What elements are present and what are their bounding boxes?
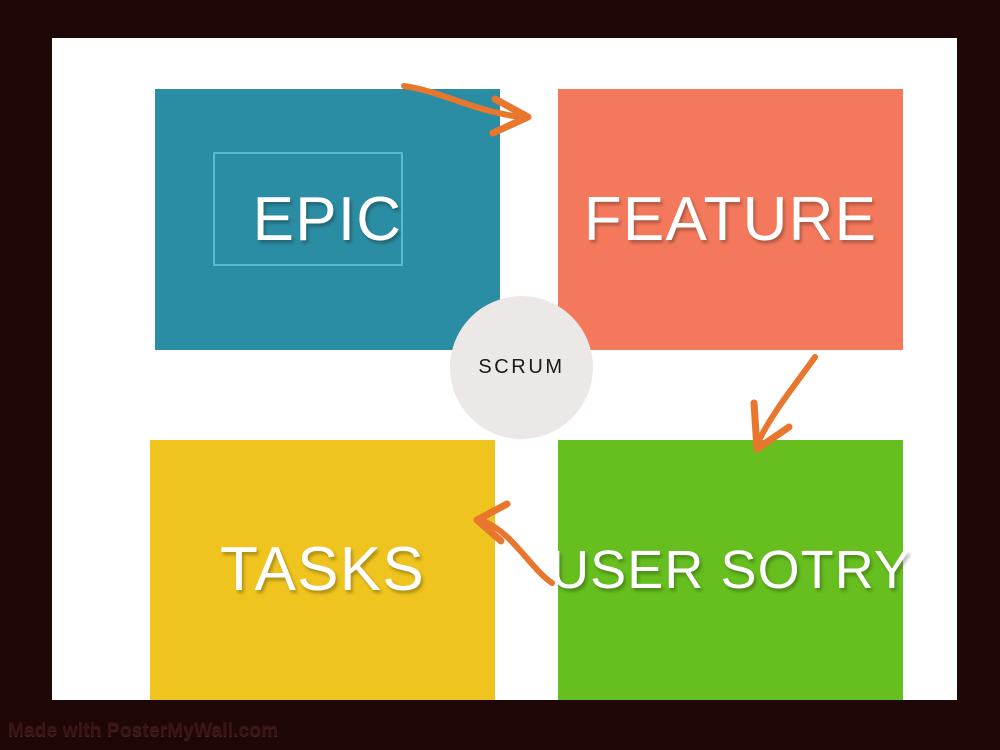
block-user-story-label: USER SOTRY [550,543,911,597]
block-user-story[interactable]: USER SOTRY [558,440,903,700]
block-feature[interactable]: FEATURE [558,89,903,350]
poster-frame: EPIC FEATURE TASKS USER SOTRY SCRUM [0,0,1000,750]
poster-canvas: EPIC FEATURE TASKS USER SOTRY SCRUM [52,38,957,700]
scrum-center-circle[interactable]: SCRUM [450,296,593,439]
block-tasks[interactable]: TASKS [150,440,495,700]
block-tasks-label: TASKS [220,539,425,601]
block-epic[interactable]: EPIC [155,89,500,350]
epic-inner-frame [213,152,403,266]
watermark-text: Made with PosterMyWall.com [8,720,278,742]
arrow-feature-to-user-story-icon [754,357,815,449]
scrum-label: SCRUM [478,356,564,379]
block-feature-label: FEATURE [584,189,877,251]
